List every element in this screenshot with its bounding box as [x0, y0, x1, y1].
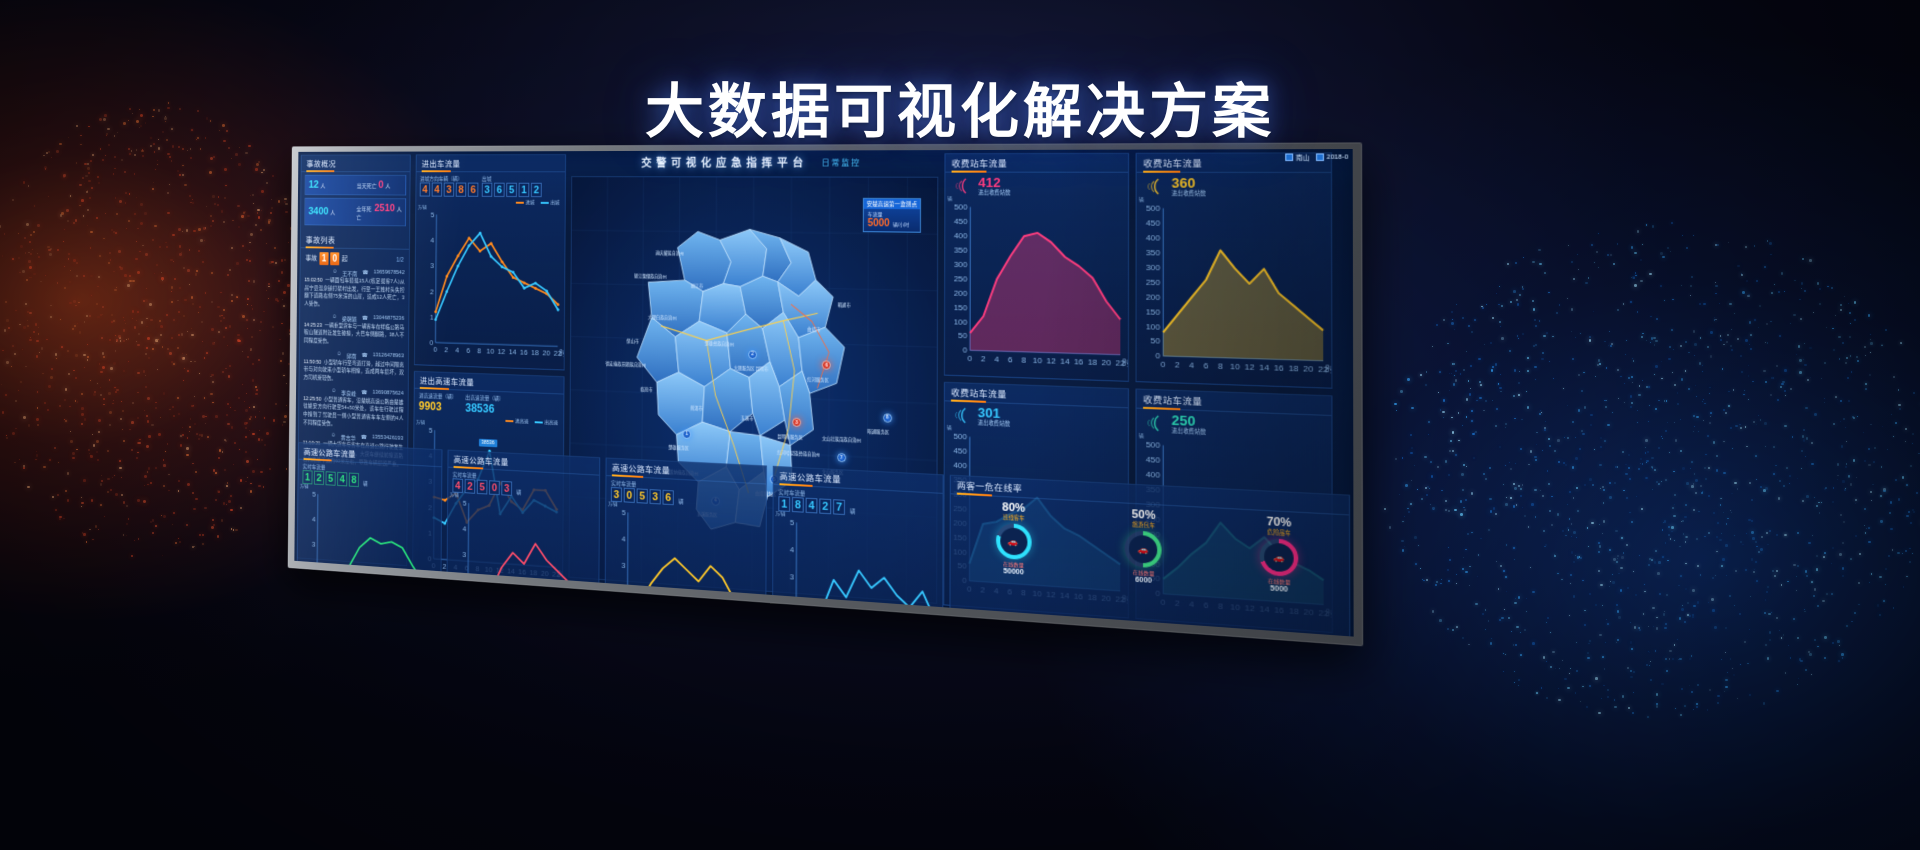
- svg-text:时: 时: [436, 632, 442, 637]
- overview-deaths: 当天死亡0人: [357, 180, 402, 191]
- toll-value: 250: [1172, 413, 1206, 428]
- map-region-label: 昭通市: [837, 303, 850, 309]
- svg-text:0: 0: [967, 584, 972, 594]
- header-chip[interactable]: 南山: [1286, 152, 1310, 162]
- svg-text:14: 14: [1060, 356, 1070, 366]
- svg-text:12: 12: [376, 628, 383, 637]
- svg-text:8: 8: [477, 347, 481, 356]
- svg-text:20: 20: [1303, 364, 1314, 374]
- map-region-label: 昆明市: [756, 367, 769, 373]
- toll-readout: 301进出收费站数: [978, 406, 1010, 428]
- svg-text:50: 50: [958, 331, 968, 341]
- highway-digit: 5: [637, 488, 648, 503]
- y-axis-unit: 万/辆: [300, 484, 309, 490]
- svg-text:22: 22: [430, 633, 438, 637]
- svg-text:500: 500: [954, 202, 968, 211]
- inout-out-digits: 36512: [482, 183, 542, 198]
- svg-text:12: 12: [1046, 590, 1055, 600]
- highway-digit: 4: [452, 478, 463, 493]
- svg-text:8: 8: [1218, 601, 1224, 611]
- highway-flow-panel: 高速公路车流量实时车流量42503辆万/辆5432100246810121416…: [446, 450, 600, 637]
- svg-text:时: 时: [1122, 594, 1128, 605]
- svg-text:250: 250: [954, 274, 968, 284]
- highway-digit: 2: [465, 479, 476, 494]
- toll-chart: 辆500450400350300250200150100500024681012…: [1136, 433, 1331, 632]
- svg-text:22: 22: [1319, 608, 1329, 619]
- svg-text:16: 16: [520, 348, 528, 357]
- highway-flow-panel: 高速公路车流量实时车流量30536辆万/辆5432100246810121416…: [604, 457, 767, 636]
- y-axis-unit: 辆: [947, 196, 952, 202]
- flow-digit: 8: [456, 183, 466, 197]
- svg-text:8: 8: [357, 626, 361, 635]
- map-tooltip-metric-label: 车流量: [867, 211, 882, 218]
- svg-text:150: 150: [1146, 307, 1161, 317]
- svg-text:3: 3: [312, 540, 316, 549]
- map-marker-label: 楚雄服务区: [668, 445, 689, 452]
- accident-text: 11:50:50 小型轿车行至弯道打滑，越过中间隔离带与对向驶来小型轿车相撞，造…: [303, 358, 403, 386]
- svg-text:6: 6: [346, 626, 350, 635]
- map-marker-label: 昭通服务区: [867, 429, 889, 436]
- accident-text: 14:25:23 一辆重型货车与一辆客车在祥临公路马鞍山隧道附近发生碰撞，大巴车…: [304, 321, 404, 348]
- svg-text:350: 350: [954, 245, 968, 255]
- accident-time: 15:02:50: [304, 278, 322, 284]
- toll-station-panel: 收费站车流量301进出收费站数辆500450400350300250200150…: [943, 382, 1129, 619]
- svg-text:6: 6: [1204, 361, 1210, 371]
- svg-text:10: 10: [1230, 602, 1241, 613]
- inout-flow-panel: 进出车流量 进城方向车辆（辆） 44386 出城 36512: [414, 154, 566, 370]
- online-rate-name: 班线客车: [996, 513, 1032, 522]
- svg-text:0: 0: [963, 346, 968, 356]
- map-region-label: 大理白族自治州: [648, 314, 677, 321]
- map-marker[interactable]: 7: [837, 453, 846, 463]
- highway-digit: 5: [326, 471, 336, 485]
- online-count-value: 6000: [1125, 576, 1162, 586]
- map-region-label: 丽江市: [691, 283, 703, 289]
- toll-gauge: 412进出收费站数: [945, 173, 1128, 197]
- map-region-label: 普洱市: [690, 405, 702, 411]
- accident-overview-rows: 12人当天死亡0人3400人全年死亡2510人: [301, 172, 410, 229]
- svg-text:300: 300: [1146, 262, 1161, 272]
- map-region-label: 文山壮族苗族自治州: [822, 436, 861, 444]
- toll-label: 进出收费站数: [978, 419, 1010, 428]
- reporter-name: 李良峰: [341, 388, 356, 397]
- accident-text: 12:25:50 小型普通客车，沿楚姚高速公路由楚雄往姚安方向行驶至54+50米…: [303, 395, 403, 432]
- svg-text:4: 4: [462, 524, 466, 533]
- svg-text:3: 3: [790, 572, 794, 581]
- svg-text:1: 1: [430, 313, 434, 322]
- online-count-label: 在线数量: [1125, 568, 1162, 578]
- count-digit: 0: [330, 252, 339, 265]
- map-tooltip: 安楚高速第一监测点 车流量 5000 辆/小时: [862, 198, 921, 233]
- svg-text:4: 4: [790, 545, 795, 555]
- flow-digit: 6: [494, 183, 505, 197]
- phone-icon: ☎: [362, 269, 368, 277]
- flow-digit: 3: [444, 183, 454, 197]
- chip-icon: [1286, 153, 1294, 161]
- svg-text:4: 4: [336, 625, 340, 634]
- accident-count-unit: 起: [342, 254, 348, 263]
- highway-panel-title: 高速公路车流量: [774, 467, 943, 494]
- toll-chart: 辆500450400350300250200150100500024681012…: [1137, 197, 1332, 388]
- online-rate-name: 旅游包车: [1125, 521, 1162, 531]
- highway-out-block: 出高速流量（辆） 38536: [465, 394, 504, 417]
- toll-station-panel: 收费站车流量360进出收费站数辆500450400350300250200150…: [1135, 152, 1332, 388]
- toll-gauge: 250进出收费站数: [1137, 409, 1332, 442]
- toll-gauge: 360进出收费站数: [1137, 173, 1331, 198]
- flow-digit: 4: [420, 182, 430, 196]
- y-axis-unit: 万/辆: [608, 501, 618, 507]
- accident-time: 11:50:50: [304, 359, 322, 365]
- legend-swatch: [541, 202, 549, 204]
- accident-time: 12:25:50: [303, 396, 321, 402]
- toll-panel-title: 收费站车流量: [945, 383, 1128, 408]
- toll-label: 进出收费站数: [1172, 190, 1206, 198]
- accident-list-page[interactable]: 1/2: [396, 257, 404, 264]
- svg-text:4: 4: [455, 346, 459, 355]
- accident-item[interactable]: ☺邱南☎1312647896311:50:50 小型轿车行至弯道打滑，越过中间隔…: [303, 350, 403, 386]
- svg-text:4: 4: [312, 515, 316, 524]
- highway-digit: 1: [302, 470, 312, 484]
- highway-chart: 万/辆5432100246810121416182022时: [447, 492, 599, 637]
- accident-overview-title: 事故概况: [301, 155, 409, 172]
- svg-text:200: 200: [954, 288, 968, 298]
- svg-text:0: 0: [466, 635, 470, 636]
- svg-text:14: 14: [1060, 590, 1070, 600]
- map-region-label: 保山市: [627, 338, 639, 344]
- highway-chart: 万/辆5432100246810121416182022时: [773, 511, 943, 637]
- accident-item[interactable]: ☺李良峰☎1369087562412:25:50 小型普通客车，沿楚姚高速公路由…: [303, 387, 404, 432]
- online-rate-name: 危险品车: [1260, 528, 1299, 538]
- overview-total: 12人: [309, 179, 354, 190]
- svg-text:5: 5: [463, 499, 467, 508]
- svg-text:20: 20: [1101, 593, 1111, 603]
- svg-text:1: 1: [621, 614, 625, 623]
- inout-in-label: 进城方向车辆（辆）: [420, 175, 479, 183]
- toll-station-panel: 收费站车流量250进出收费站数辆500450400350300250200150…: [1135, 388, 1333, 633]
- online-rate-item: 50%旅游包车🚗在线数量6000: [1125, 508, 1162, 586]
- toll-chart: 辆500450400350300250200150100500024681012…: [945, 196, 1128, 381]
- svg-text:100: 100: [953, 547, 967, 557]
- svg-text:12: 12: [1046, 356, 1055, 366]
- svg-text:450: 450: [1146, 218, 1161, 228]
- reporter-name: 王不南: [342, 269, 357, 278]
- accident-text: 15:02:50 一辆面包车搭载15人(核定载客7人)从昌宁县温泉镇打帮村出发，…: [304, 277, 404, 311]
- svg-text:22: 22: [1115, 594, 1125, 604]
- chart-annotation: 38536: [479, 439, 497, 448]
- svg-text:0: 0: [1161, 597, 1167, 607]
- svg-text:4: 4: [622, 534, 627, 543]
- svg-text:18: 18: [1288, 363, 1299, 373]
- dashboard-subtitle[interactable]: 日常监控: [822, 157, 861, 168]
- highway-in-value: 9903: [419, 399, 457, 414]
- reporter-icon: ☺: [331, 388, 336, 397]
- highway-chart: 万/辆5432100246810121416182022时: [297, 484, 441, 637]
- svg-text:0: 0: [1155, 351, 1161, 361]
- svg-text:50: 50: [958, 561, 968, 571]
- flow-digit: 4: [432, 182, 442, 196]
- highway-digit: 2: [314, 471, 324, 485]
- svg-text:10: 10: [1032, 589, 1042, 599]
- svg-text:8: 8: [1021, 355, 1026, 365]
- svg-text:0: 0: [433, 345, 437, 354]
- svg-text:200: 200: [1146, 529, 1161, 540]
- dashboard-screen: 南山2018-0 事故概况 12人当天死亡0人3400人全年死亡2510人 事故…: [294, 149, 1353, 637]
- toll-value: 360: [1172, 176, 1206, 190]
- toll-station-panel: 收费站车流量412进出收费站数辆500450400350300250200150…: [944, 153, 1129, 382]
- y-axis-unit: 万/辆: [418, 205, 427, 211]
- highway-digit: 4: [337, 472, 347, 487]
- highway-flow-panel: 高速公路车流量实时车流量12548辆万/辆5432100246810121416…: [296, 442, 442, 637]
- svg-text:0: 0: [1155, 589, 1161, 599]
- svg-text:20: 20: [420, 632, 428, 637]
- svg-text:500: 500: [1146, 204, 1161, 214]
- svg-text:18: 18: [531, 348, 539, 357]
- svg-text:18: 18: [1088, 357, 1098, 367]
- svg-text:300: 300: [1146, 499, 1161, 510]
- y-axis-unit: 辆: [1139, 197, 1144, 203]
- reporter-icon: ☺: [336, 351, 341, 360]
- dashboard-title: 交警可视化应急指挥平台: [641, 155, 808, 171]
- map-region-label: 楚雄彝族自治州: [705, 340, 734, 347]
- svg-text:150: 150: [954, 302, 968, 312]
- highway-digit: 3: [650, 489, 661, 504]
- toll-column-right: 收费站车流量360进出收费站数辆500450400350300250200150…: [1132, 149, 1336, 636]
- phone-icon: ☎: [362, 315, 368, 324]
- wave-icon: [951, 406, 974, 425]
- svg-text:14: 14: [1259, 604, 1270, 615]
- svg-text:0: 0: [968, 354, 973, 364]
- svg-text:12: 12: [1245, 603, 1255, 614]
- svg-text:14: 14: [509, 348, 517, 357]
- legend-swatch: [516, 201, 524, 203]
- svg-text:3: 3: [430, 262, 434, 271]
- svg-text:250: 250: [953, 503, 967, 513]
- y-axis-unit: 万/辆: [775, 511, 785, 518]
- wave-icon: [1143, 177, 1167, 196]
- highway-digit: 4: [806, 498, 818, 514]
- page-title: 大数据可视化解决方案: [0, 82, 1920, 141]
- svg-text:4: 4: [430, 236, 434, 245]
- svg-text:50: 50: [1151, 336, 1161, 346]
- toll-readout: 250进出收费站数: [1172, 413, 1206, 436]
- header-chip[interactable]: 2018-0: [1316, 153, 1348, 161]
- svg-text:16: 16: [398, 630, 405, 637]
- bottom-strip: 高速公路车流量实时车流量12548辆万/辆5432100246810121416…: [294, 439, 1353, 637]
- flow-digit: 5: [506, 183, 517, 197]
- svg-text:400: 400: [1146, 470, 1161, 480]
- highway-digit: 0: [624, 488, 635, 503]
- svg-text:14: 14: [1259, 363, 1270, 373]
- toll-gauge: 301进出收费站数: [945, 401, 1128, 432]
- highway-digit: 8: [792, 497, 804, 513]
- toll-value: 301: [978, 406, 1010, 421]
- overview-total: 3400人: [308, 206, 353, 217]
- inout-in-digits: 44386: [420, 182, 479, 196]
- y-axis-unit: 万/辆: [450, 492, 459, 498]
- svg-text:12: 12: [498, 347, 506, 356]
- dashboard-header: 交警可视化应急指挥平台 日常监控: [569, 150, 942, 175]
- chip-icon: [1316, 153, 1324, 161]
- svg-text:6: 6: [466, 346, 470, 355]
- overview-row: 12人当天死亡0人: [305, 175, 407, 196]
- map-marker[interactable]: 8: [883, 413, 892, 423]
- svg-text:4: 4: [1189, 360, 1195, 370]
- online-count-value: 50000: [996, 567, 1032, 577]
- online-count-label: 在线数量: [1260, 577, 1299, 587]
- toll-column-left: 收费站车流量412进出收费站数辆500450400350300250200150…: [940, 150, 1132, 621]
- svg-text:20: 20: [542, 349, 550, 358]
- map-marker-label: 红河服务区: [807, 377, 829, 384]
- inout-flow-chart: 万/辆5432100246810121416182022时: [415, 205, 565, 370]
- svg-text:100: 100: [954, 317, 968, 327]
- map-marker-label: 昆明南服务区: [777, 434, 803, 441]
- phone-icon: ☎: [362, 352, 368, 361]
- flow-digit: 6: [468, 183, 479, 197]
- toll-readout: 360进出收费站数: [1172, 176, 1206, 197]
- svg-text:1: 1: [311, 591, 315, 600]
- svg-text:2: 2: [325, 624, 329, 633]
- count-digit: 1: [319, 252, 328, 265]
- y-axis-unit: 辆: [1139, 433, 1144, 440]
- accident-time: 14:25:23: [304, 322, 322, 328]
- overview-deaths: 全年死亡2510人: [356, 203, 402, 222]
- svg-text:时: 时: [1326, 607, 1332, 619]
- highway-digit: 8: [349, 473, 359, 488]
- svg-text:18: 18: [409, 631, 417, 637]
- map-marker[interactable]: 2: [748, 350, 757, 359]
- online-rate-ring: 🚗: [996, 523, 1032, 561]
- highway-digits: 18427辆: [778, 496, 937, 520]
- svg-text:8: 8: [1021, 588, 1026, 598]
- svg-text:400: 400: [953, 460, 967, 470]
- toll-label: 进出收费站数: [978, 189, 1010, 196]
- map-region-label: 怒江傈僳族自治州: [634, 274, 667, 280]
- svg-text:20: 20: [1102, 358, 1112, 368]
- svg-text:0: 0: [311, 616, 315, 625]
- inout-out-label: 出城: [482, 175, 542, 183]
- vehicle-icon: 🚗: [1129, 535, 1157, 564]
- svg-text:16: 16: [1074, 591, 1084, 601]
- toll-label: 进出收费站数: [1172, 427, 1206, 436]
- map-region-label: 临沧市: [640, 387, 652, 393]
- online-rate-item: 80%班线客车🚗在线数量50000: [996, 501, 1032, 577]
- highway-digit: 6: [663, 490, 674, 505]
- svg-text:150: 150: [953, 532, 967, 542]
- map-marker-label: 文山服务区: [822, 469, 844, 476]
- highway-unit: 辆: [850, 507, 856, 515]
- highway-readout: 实时车流量18427辆: [774, 485, 943, 521]
- flow-digit: 2: [531, 183, 542, 197]
- highway-out-value: 38536: [465, 401, 504, 416]
- svg-text:18: 18: [1087, 592, 1097, 602]
- y-axis-unit: 万/辆: [416, 420, 425, 426]
- svg-text:6: 6: [1008, 355, 1013, 365]
- map-marker[interactable]: 3: [792, 418, 801, 427]
- svg-text:0: 0: [315, 623, 319, 632]
- svg-text:450: 450: [1146, 455, 1161, 465]
- svg-text:6: 6: [1204, 600, 1210, 610]
- wave-icon: [1143, 413, 1167, 433]
- svg-text:时: 时: [1325, 363, 1331, 374]
- online-rate-ring: 🚗: [1125, 530, 1162, 568]
- toll-panel-title: 收费站车流量: [945, 154, 1128, 173]
- map-marker-label: 大理服务区: [734, 366, 755, 373]
- svg-text:200: 200: [953, 518, 967, 528]
- svg-text:450: 450: [954, 217, 968, 227]
- svg-text:150: 150: [1146, 544, 1161, 555]
- accident-list-title: 事故列表: [301, 232, 409, 250]
- svg-text:5: 5: [429, 426, 433, 435]
- header-chips: 南山2018-0: [1286, 152, 1349, 162]
- highway-digit: 3: [501, 481, 512, 496]
- svg-text:300: 300: [953, 489, 967, 499]
- map-region-label: 玉溪市: [741, 416, 754, 423]
- highway-digit: 3: [611, 487, 622, 502]
- svg-text:350: 350: [1146, 484, 1161, 495]
- svg-text:3: 3: [462, 550, 466, 559]
- svg-text:0: 0: [462, 628, 466, 637]
- svg-text:1: 1: [462, 602, 466, 611]
- highway-in-block: 进高速流量（辆） 9903: [419, 392, 457, 414]
- accident-count-digits: 10: [319, 252, 339, 265]
- reporter-name: 邱南: [346, 351, 356, 360]
- svg-text:18: 18: [1289, 606, 1300, 617]
- toll-panel-title: 收费站车流量: [1137, 390, 1332, 417]
- highway-digit: 1: [778, 496, 790, 512]
- map-region-label: 红河哈尼族彝族自治州: [777, 450, 820, 458]
- online-count-label: 在线数量: [996, 560, 1032, 570]
- accident-count-label: 事故: [305, 254, 317, 263]
- svg-text:10: 10: [1033, 356, 1043, 366]
- map-tooltip-unit: 辆/小时: [893, 221, 909, 228]
- svg-text:450: 450: [953, 446, 967, 456]
- map-tooltip-title: 安楚高速第一监测点: [864, 199, 920, 209]
- accident-item[interactable]: ☺梁朝颖☎1304687523614:25:23 一辆重型货车与一辆客车在祥临公…: [304, 313, 404, 348]
- svg-text:5: 5: [622, 508, 626, 517]
- toll-panel-title: 收费站车流量: [1137, 153, 1331, 173]
- online-rate-pct: 50%: [1125, 508, 1162, 523]
- svg-text:22: 22: [1318, 364, 1328, 374]
- toll-value: 412: [978, 176, 1010, 189]
- svg-text:0: 0: [962, 576, 967, 586]
- svg-text:22: 22: [1116, 358, 1126, 368]
- svg-text:250: 250: [1146, 277, 1161, 287]
- online-rate-pct: 80%: [996, 501, 1032, 515]
- reporter-icon: ☺: [332, 269, 337, 277]
- flow-digit: 3: [482, 183, 493, 197]
- highway-chart: 万/辆5432100246810121416182022时: [605, 501, 766, 636]
- accident-item[interactable]: ☺王不南☎1365967854215:02:50 一辆面包车搭载15人(核定载客…: [304, 268, 404, 311]
- vehicle-icon: 🚗: [1000, 527, 1027, 556]
- toll-chart: 辆500450400350300250200150100500024681012…: [944, 425, 1128, 617]
- online-rate-item: 70%危险品车🚗在线数量5000: [1260, 515, 1299, 595]
- highway-digit: 2: [819, 498, 831, 514]
- svg-text:12: 12: [1244, 362, 1254, 372]
- svg-text:6: 6: [1007, 587, 1012, 597]
- svg-text:350: 350: [1146, 248, 1161, 258]
- svg-text:0: 0: [1161, 360, 1167, 370]
- map-marker[interactable]: 6: [822, 361, 831, 370]
- toll-readout: 412进出收费站数: [978, 176, 1010, 197]
- svg-text:100: 100: [1146, 558, 1161, 569]
- svg-text:1: 1: [789, 627, 793, 637]
- online-rate-title: 两客一危在线率: [951, 476, 1349, 516]
- inout-out-block: 出城 36512: [482, 175, 542, 197]
- svg-text:50: 50: [1151, 574, 1161, 584]
- map-marker[interactable]: 1: [683, 429, 691, 438]
- svg-text:2: 2: [981, 585, 986, 595]
- map-tooltip-value: 5000: [867, 218, 889, 229]
